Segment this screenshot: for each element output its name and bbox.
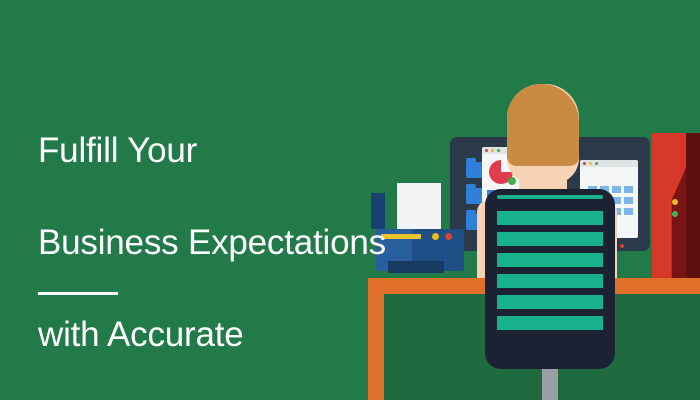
page-title: Fulfill Your Business Expectations with …	[38, 82, 458, 400]
chair-slat-0	[497, 195, 603, 199]
headline-underline	[38, 292, 118, 295]
sheet-dot-yellow	[589, 162, 592, 165]
server-led-yellow	[672, 199, 678, 205]
chair-slat-2	[497, 232, 603, 246]
server-tower-side	[686, 133, 700, 278]
monitor-led-red-2	[620, 244, 624, 248]
chair-slat-6	[497, 316, 603, 330]
window-dot-red	[485, 149, 488, 152]
chair-slat-5	[497, 295, 603, 309]
headline-line-2: Business Expectations	[38, 220, 458, 266]
window-dot-yellow	[491, 149, 494, 152]
headline-line-3: with Accurate	[38, 312, 458, 358]
chair-slat-3	[497, 253, 603, 267]
headline-line-1: Fulfill Your	[38, 128, 458, 174]
chair-slat-4	[497, 274, 603, 288]
chair-slat-1	[497, 211, 603, 225]
window-dot-green	[497, 149, 500, 152]
pie-chart-green-slice	[508, 177, 516, 185]
sheet-dot-red	[583, 162, 586, 165]
banner-canvas: Fulfill Your Business Expectations with …	[0, 0, 700, 400]
person-hair	[507, 84, 579, 166]
sheet-dot-green	[595, 162, 598, 165]
server-led-green	[672, 211, 678, 217]
